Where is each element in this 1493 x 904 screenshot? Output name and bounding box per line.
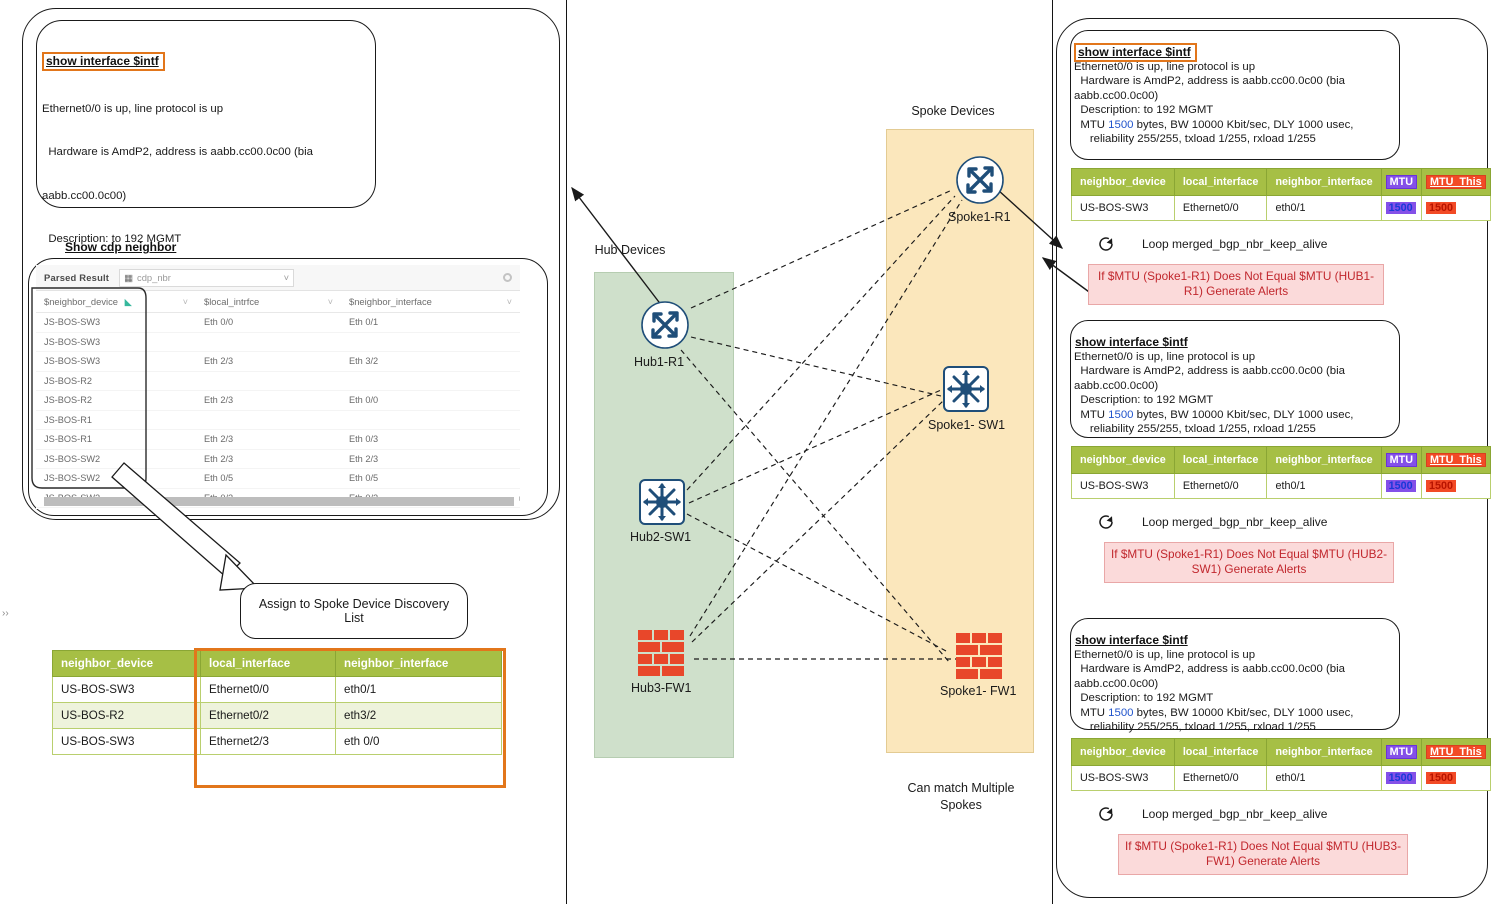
cli-line: Description: to 192 MGMT [1074,393,1398,407]
table-header-row: neighbor_devicelocal_interfaceneighbor_i… [1072,447,1491,474]
mtu-this-header-badge: MTU_This [1426,453,1486,467]
cli-line: MTU 1500 bytes, BW 10000 Kbit/sec, DLY 1… [1074,118,1398,132]
cli-line: Description: to 192 MGMT [1074,103,1398,117]
diagram-canvas: show interface $intf Ethernet0/0 is up, … [0,0,1493,904]
col-mtu-this: MTU_This [1422,169,1491,196]
loop-label: Loop merged_bgp_nbr_keep_alive [1142,237,1327,251]
col-mtu-this: MTU_This [1422,447,1491,474]
right-table-3: neighbor_devicelocal_interfaceneighbor_i… [1071,738,1491,791]
mtu-this-value-badge: 1500 [1426,772,1456,784]
right-cli-command-text: show interface $intf [1074,335,1190,350]
loop-icon [1096,512,1116,532]
col-mtu: MTU [1381,447,1421,474]
alert-box-2: If $MTU (Spoke1-R1) Does Not Equal $MTU … [1104,542,1394,583]
mtu-value: 1500 [1108,707,1133,719]
col-neighbor-interface: neighbor_interface [1267,739,1381,766]
cli-line: aabb.cc00.0c00) [1074,677,1398,691]
right-cli-output-1: Ethernet0/0 is up, line protocol is up H… [1074,60,1398,147]
mtu-this-value-badge: 1500 [1426,480,1456,492]
table-cell: US-BOS-SW3 [1072,474,1175,499]
hub1-r1-label: Hub1-R1 [634,355,684,369]
right-table-2: neighbor_devicelocal_interfaceneighbor_i… [1071,446,1491,499]
alert-box-3: If $MTU (Spoke1-R1) Does Not Equal $MTU … [1118,834,1408,875]
mtu-value: 1500 [1108,119,1133,131]
col-mtu: MTU [1381,739,1421,766]
loop-label: Loop merged_bgp_nbr_keep_alive [1142,807,1327,821]
cli-line: reliability 255/255, txload 1/255, rxloa… [1074,132,1398,146]
cli-line: aabb.cc00.0c00) [1074,379,1398,393]
table-row: US-BOS-SW3Ethernet0/0eth0/115001500 [1072,196,1491,221]
cli-line: Description: to 192 MGMT [1074,691,1398,705]
mtu-value: 1500 [1108,409,1133,421]
spoke1-sw1-label: Spoke1- SW1 [928,418,1005,432]
table-cell: Ethernet0/0 [1174,766,1267,791]
cell-mtu-this: 1500 [1422,196,1491,221]
cli-line: reliability 255/255, txload 1/255, rxloa… [1074,720,1398,734]
loop-icon [1096,804,1116,824]
cli-line: Ethernet0/0 is up, line protocol is up [1074,350,1398,364]
cell-mtu: 1500 [1381,474,1421,499]
hub2-sw1-label: Hub2-SW1 [630,530,691,544]
loop-label: Loop merged_bgp_nbr_keep_alive [1142,515,1327,529]
spoke1-r1-router-icon[interactable] [955,155,1005,205]
cli-line: MTU 1500 bytes, BW 10000 Kbit/sec, DLY 1… [1074,706,1398,720]
col-mtu: MTU [1381,169,1421,196]
cell-mtu-this: 1500 [1422,474,1491,499]
right-cli-command-3: show interface $intf [1074,631,1190,649]
mtu-value-badge: 1500 [1386,480,1416,492]
loop-row-3: Loop merged_bgp_nbr_keep_alive [1096,804,1327,824]
col-local-interface: local_interface [1174,739,1267,766]
alert-box-1: If $MTU (Spoke1-R1) Does Not Equal $MTU … [1088,264,1384,305]
mtu-this-header-badge: MTU_This [1426,745,1486,759]
alert-text: If $MTU (Spoke1-R1) Does Not Equal $MTU … [1111,547,1387,576]
col-neighbor-device: neighbor_device [1072,447,1175,474]
mtu-header-badge: MTU [1386,745,1417,759]
hub1-r1-router-icon[interactable] [640,300,690,350]
spoke-footnote: Can match Multiple Spokes [898,763,1024,814]
table-cell: US-BOS-SW3 [1072,766,1175,791]
right-cli-output-2: Ethernet0/0 is up, line protocol is up H… [1074,350,1398,437]
hub2-sw1-switch-icon[interactable] [638,478,686,526]
cell-mtu-this: 1500 [1422,766,1491,791]
mtu-value-badge: 1500 [1386,772,1416,784]
col-neighbor-interface: neighbor_interface [1267,169,1381,196]
cli-line: Hardware is AmdP2, address is aabb.cc00.… [1074,74,1398,88]
table-cell: Ethernet0/0 [1174,196,1267,221]
loop-row-2: Loop merged_bgp_nbr_keep_alive [1096,512,1327,532]
right-cli-output-3: Ethernet0/0 is up, line protocol is up H… [1074,648,1398,735]
table-row: US-BOS-SW3Ethernet0/0eth0/115001500 [1072,766,1491,791]
col-neighbor-interface: neighbor_interface [1267,447,1381,474]
cli-line: aabb.cc00.0c00) [1074,89,1398,103]
cli-line: reliability 255/255, txload 1/255, rxloa… [1074,422,1398,436]
cli-line: Hardware is AmdP2, address is aabb.cc00.… [1074,662,1398,676]
table-cell: US-BOS-SW3 [1072,196,1175,221]
cli-line: Ethernet0/0 is up, line protocol is up [1074,60,1398,74]
right-cli-command-2: show interface $intf [1074,333,1190,351]
spoke1-fw1-label: Spoke1- FW1 [940,684,1016,698]
table-cell: eth0/1 [1267,474,1381,499]
spoke1-fw1-firewall-icon[interactable] [955,632,1009,684]
table-cell: eth0/1 [1267,766,1381,791]
loop-icon [1096,234,1116,254]
cell-mtu: 1500 [1381,766,1421,791]
col-local-interface: local_interface [1174,169,1267,196]
cli-line: Ethernet0/0 is up, line protocol is up [1074,648,1398,662]
cli-line: Hardware is AmdP2, address is aabb.cc00.… [1074,364,1398,378]
hub3-fw1-firewall-icon[interactable] [637,629,691,681]
alert-text: If $MTU (Spoke1-R1) Does Not Equal $MTU … [1125,839,1401,868]
right-table-1: neighbor_devicelocal_interfaceneighbor_i… [1071,168,1491,221]
table-row: US-BOS-SW3Ethernet0/0eth0/115001500 [1072,474,1491,499]
cell-mtu: 1500 [1381,196,1421,221]
mtu-this-value-badge: 1500 [1426,202,1456,214]
table-header-row: neighbor_devicelocal_interfaceneighbor_i… [1072,739,1491,766]
mtu-header-badge: MTU [1386,453,1417,467]
hub3-fw1-label: Hub3-FW1 [631,681,691,695]
mtu-this-header-badge: MTU_This [1426,175,1486,189]
table-cell: Ethernet0/0 [1174,474,1267,499]
spoke1-r1-label: Spoke1-R1 [948,210,1011,224]
table-cell: eth0/1 [1267,196,1381,221]
cli-line: MTU 1500 bytes, BW 10000 Kbit/sec, DLY 1… [1074,408,1398,422]
col-mtu-this: MTU_This [1422,739,1491,766]
col-neighbor-device: neighbor_device [1072,169,1175,196]
col-local-interface: local_interface [1174,447,1267,474]
loop-row-1: Loop merged_bgp_nbr_keep_alive [1096,234,1327,254]
mtu-header-badge: MTU [1386,175,1417,189]
table-header-row: neighbor_devicelocal_interfaceneighbor_i… [1072,169,1491,196]
mtu-value-badge: 1500 [1386,202,1416,214]
alert-text: If $MTU (Spoke1-R1) Does Not Equal $MTU … [1098,269,1374,298]
spoke1-sw1-switch-icon[interactable] [942,365,990,413]
right-cli-command-text: show interface $intf [1074,633,1190,648]
col-neighbor-device: neighbor_device [1072,739,1175,766]
